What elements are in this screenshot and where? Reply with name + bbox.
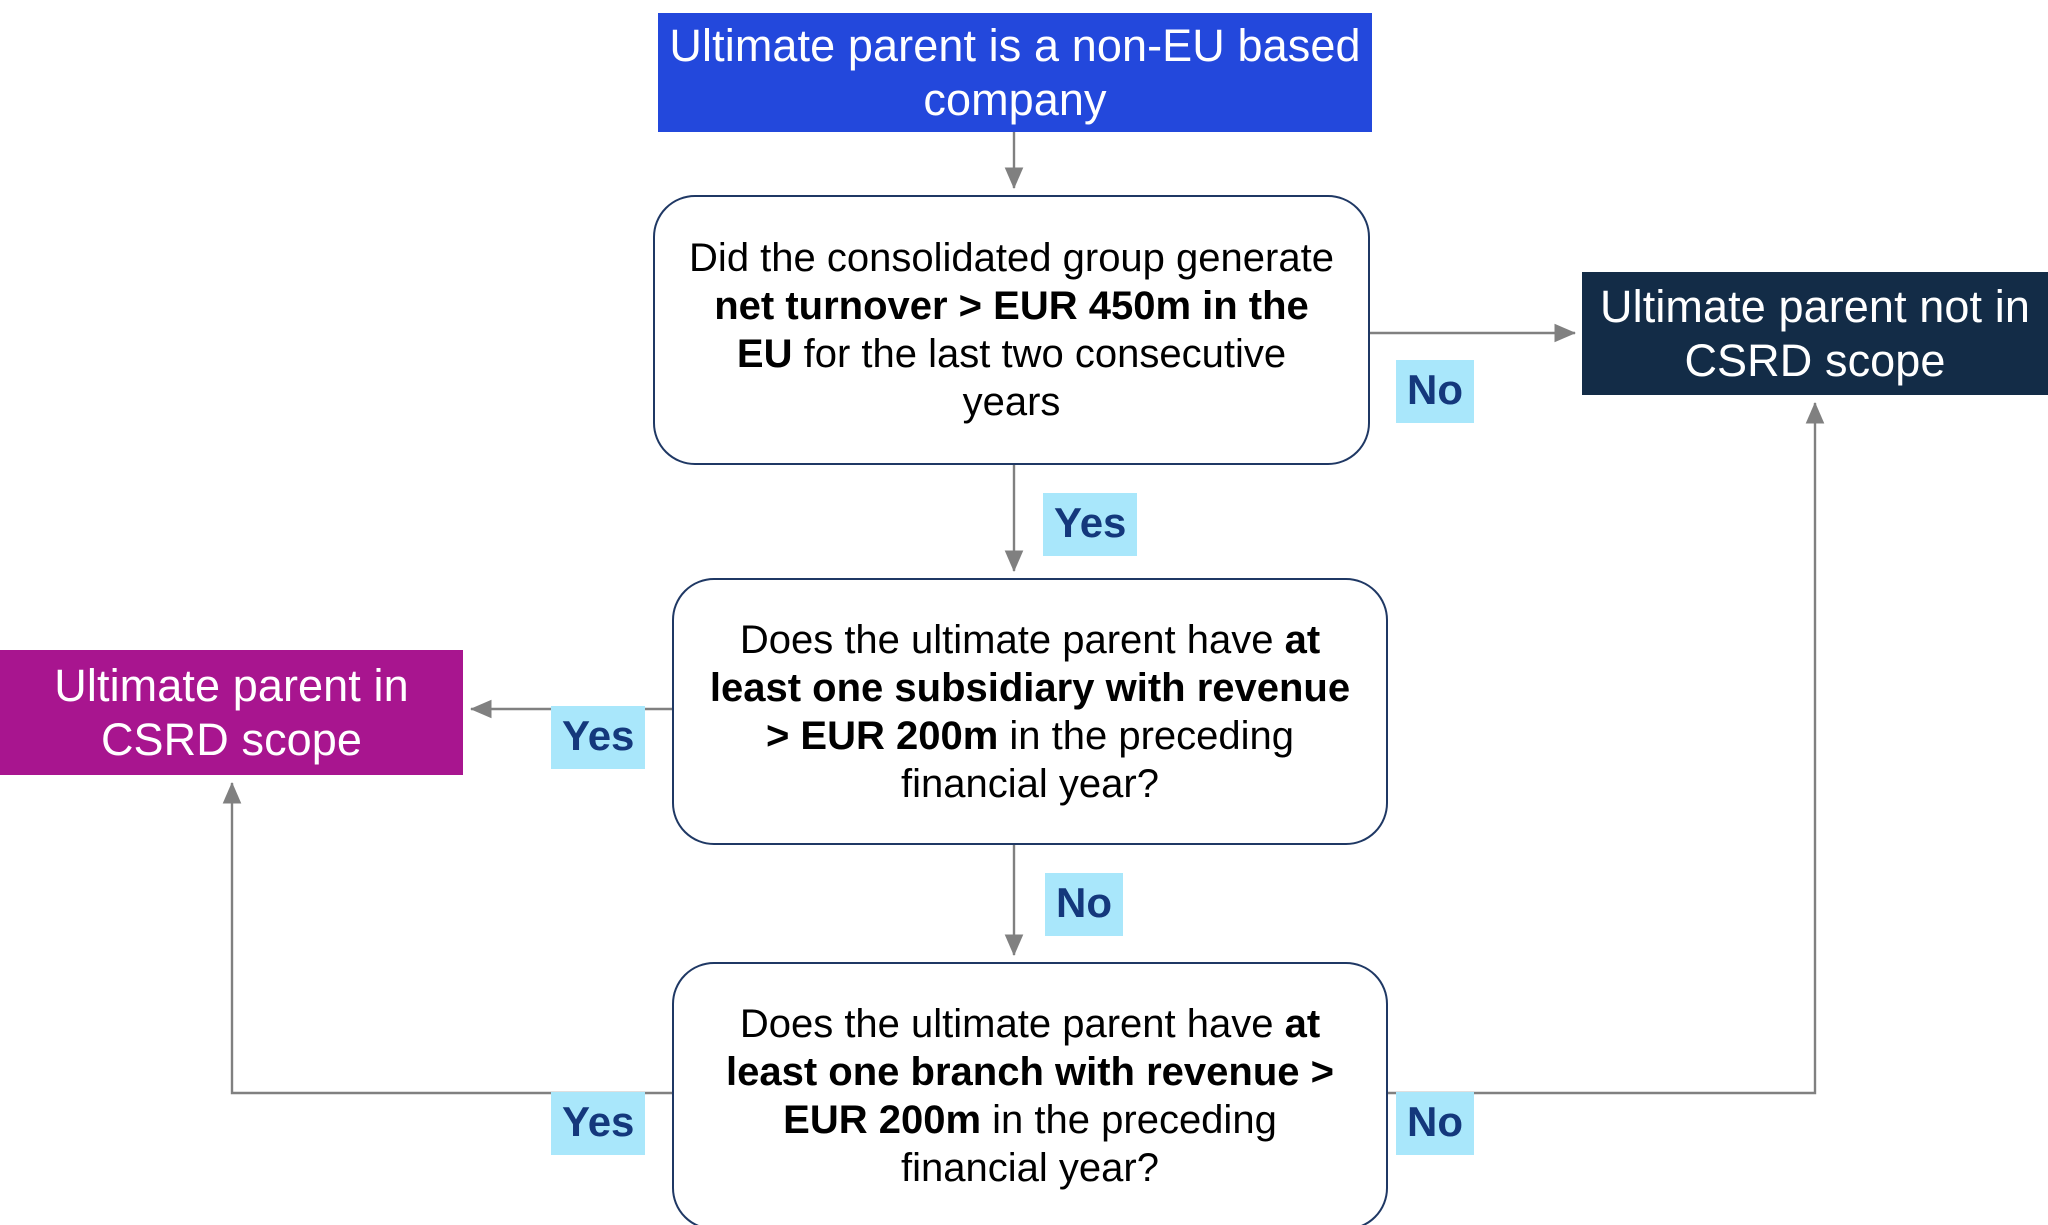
node-decision-branch-revenue[interactable]: Does the ultimate parent have at least o…: [672, 962, 1388, 1225]
node-in-scope-label: Ultimate parent in CSRD scope: [10, 659, 453, 765]
edge-label-decision2-yes: Yes: [551, 706, 645, 769]
decision-1-text-b: for the last two consecutive years: [793, 332, 1287, 424]
edge-decision3-yes-to-in-scope: [232, 783, 672, 1093]
node-outcome-in-csrd-scope[interactable]: Ultimate parent in CSRD scope: [0, 650, 463, 775]
edge-label-decision1-yes: Yes: [1043, 493, 1137, 556]
edge-label-decision1-no: No: [1396, 360, 1474, 423]
decision-1-text-a: Did the consolidated group generate: [689, 236, 1334, 280]
node-decision-2-label: Does the ultimate parent have at least o…: [708, 616, 1352, 808]
node-start-ultimate-parent-non-eu[interactable]: Ultimate parent is a non-EU based compan…: [658, 13, 1372, 132]
edge-label-decision2-no: No: [1045, 873, 1123, 936]
decision-3-text-a: Does the ultimate parent have: [740, 1002, 1285, 1046]
node-decision-subsidiary-revenue[interactable]: Does the ultimate parent have at least o…: [672, 578, 1388, 845]
node-start-label: Ultimate parent is a non-EU based compan…: [668, 19, 1362, 125]
flowchart-canvas: out of scope --> decision 2 --> in scope…: [0, 0, 2048, 1225]
node-decision-3-label: Does the ultimate parent have at least o…: [708, 1000, 1352, 1192]
edge-label-decision3-yes: Yes: [551, 1092, 645, 1155]
node-out-of-scope-label: Ultimate parent not in CSRD scope: [1592, 280, 2038, 386]
edge-label-decision3-no: No: [1396, 1092, 1474, 1155]
node-decision-net-turnover[interactable]: Did the consolidated group generate net …: [653, 195, 1370, 465]
node-outcome-not-in-csrd-scope[interactable]: Ultimate parent not in CSRD scope: [1582, 272, 2048, 395]
edge-decision3-no-to-out-of-scope: [1388, 403, 1815, 1093]
node-decision-1-label: Did the consolidated group generate net …: [689, 234, 1334, 426]
decision-2-text-a: Does the ultimate parent have: [740, 618, 1285, 662]
